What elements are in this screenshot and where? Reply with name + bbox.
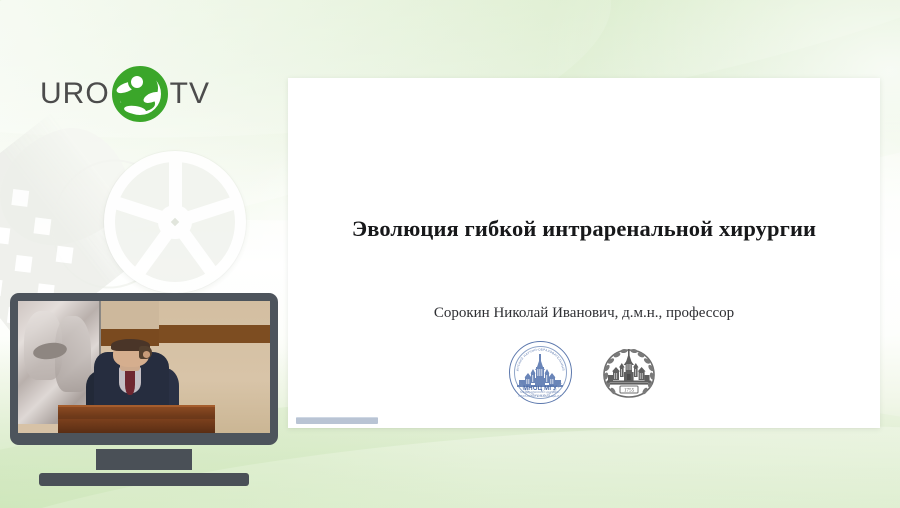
presentation-slide[interactable]: Эволюция гибкой интраренальной хирургии … <box>288 78 880 428</box>
film-reel-icon <box>104 151 246 293</box>
video-screen[interactable] <box>18 301 270 433</box>
speaker-ear <box>143 351 151 358</box>
speaker-tie <box>125 368 135 394</box>
screenshot-stage: URO TV Эволюция гибкой интраренальной хи… <box>0 0 900 508</box>
video-wall-wood-band-right <box>159 325 270 343</box>
logo-text-tv: TV <box>170 79 210 109</box>
slide-logo-row: МЕДИЦИНСКИЙ НАУЧНО-ОБРАЗОВАТЕЛЬНЫЙ ЦЕНТР… <box>509 341 660 404</box>
video-podium <box>58 405 214 433</box>
monitor-stand-base <box>39 473 249 486</box>
slide-title: Эволюция гибкой интраренальной хирургии <box>288 216 880 242</box>
slide-subtitle: Сорокин Николай Иванович, д.м.н., профес… <box>434 305 734 322</box>
urotv-flower-mark-icon <box>112 66 168 122</box>
logo-text-uro: URO <box>40 79 110 109</box>
svg-text:МЕДИЦИНСКИЙ НАУЧНО-ОБРАЗОВАТЕ: МЕДИЦИНСКИЙ НАУЧНО-ОБРАЗОВАТЕЛЬНЫЙ ЦЕНТР <box>509 341 565 372</box>
poster-figure-right <box>55 316 91 392</box>
mnoc-mgu-emblem-icon: МЕДИЦИНСКИЙ НАУЧНО-ОБРАЗОВАТЕЛЬНЫЙ ЦЕНТР… <box>509 341 572 404</box>
monitor-stand-neck <box>96 449 192 470</box>
urotv-logo[interactable]: URO TV <box>40 66 210 122</box>
mgu-emblem-subtitle: МЕДИЦИНСКИЙ НАУЧНО-ОБРАЗОВАТЕЛЬНЫЙ ЦЕНТР <box>509 390 572 398</box>
presentation-video-monitor[interactable] <box>10 293 278 486</box>
monitor-bezel <box>10 293 278 445</box>
film-reel-watermark <box>0 135 282 310</box>
mgu-ring-top-text: МЕДИЦИНСКИЙ НАУЧНО-ОБРАЗОВАТЕЛЬНЫЙ ЦЕНТР <box>509 341 565 372</box>
msu-crest-emblem-icon: 1755 <box>598 342 660 404</box>
msu-year-text: 1755 <box>623 387 634 393</box>
video-podium-front <box>58 419 214 433</box>
slide-scrollbar[interactable] <box>296 417 378 424</box>
